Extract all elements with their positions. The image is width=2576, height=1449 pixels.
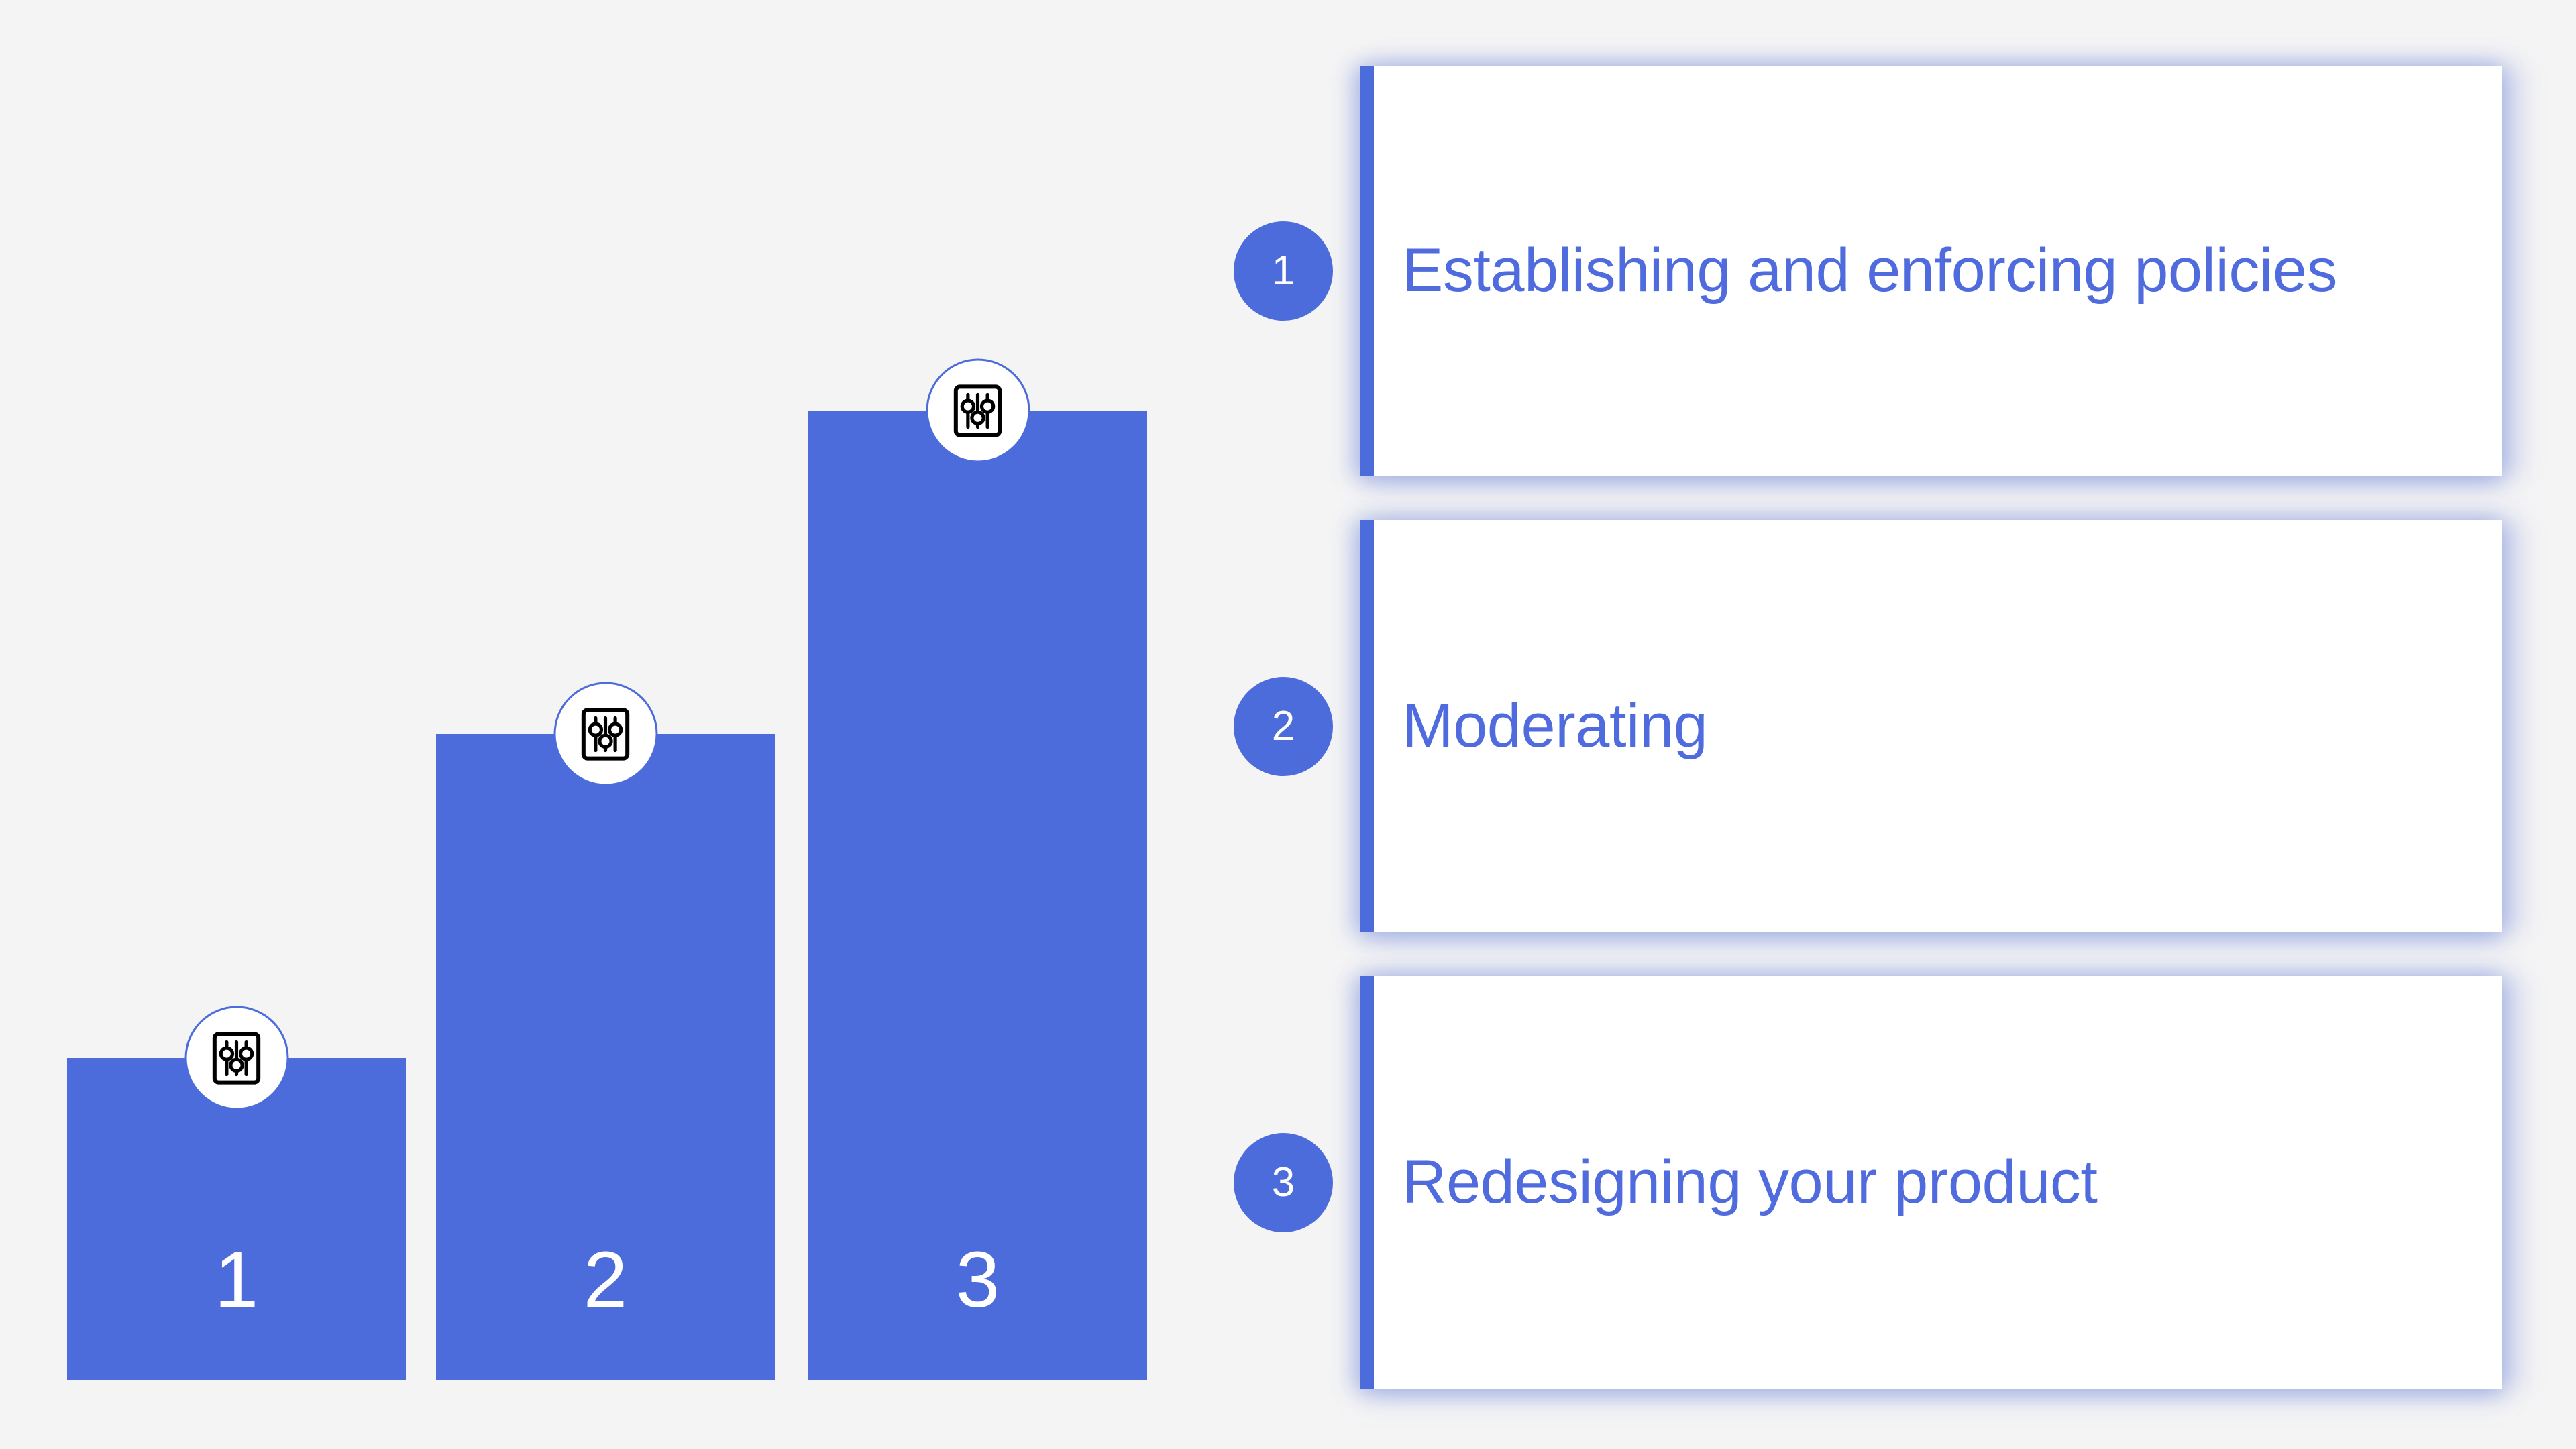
infographic-canvas: 1 2 bbox=[0, 0, 2576, 1449]
step-card-1[interactable]: Establishing and enforcing policies bbox=[1360, 66, 2502, 476]
step-label-3: Redesigning your product bbox=[1374, 1143, 2124, 1222]
sliders-equalizer-icon bbox=[553, 682, 657, 786]
step-number-badge-1: 1 bbox=[1234, 221, 1333, 321]
step-number-badge-2: 2 bbox=[1234, 677, 1333, 776]
step-item-2: 2 Moderating bbox=[1207, 520, 2576, 932]
step-label-1: Establishing and enforcing policies bbox=[1374, 231, 2364, 311]
step-number-badge-3: 3 bbox=[1234, 1133, 1333, 1232]
bar-label-2: 2 bbox=[436, 1240, 775, 1320]
bar-chart: 1 2 bbox=[0, 0, 1207, 1449]
bar-2[interactable]: 2 bbox=[436, 734, 775, 1380]
sliders-equalizer-icon bbox=[184, 1006, 288, 1110]
step-list: 1 Establishing and enforcing policies 2 … bbox=[1207, 0, 2576, 1449]
step-label-2: Moderating bbox=[1374, 687, 1734, 766]
step-card-2[interactable]: Moderating bbox=[1360, 520, 2502, 932]
sliders-equalizer-icon bbox=[926, 359, 1030, 463]
bar-label-3: 3 bbox=[808, 1240, 1147, 1320]
bar-1[interactable]: 1 bbox=[67, 1058, 406, 1380]
step-item-1: 1 Establishing and enforcing policies bbox=[1207, 66, 2576, 476]
bar-label-1: 1 bbox=[67, 1240, 406, 1320]
bar-3[interactable]: 3 bbox=[808, 411, 1147, 1380]
step-card-3[interactable]: Redesigning your product bbox=[1360, 976, 2502, 1389]
step-item-3: 3 Redesigning your product bbox=[1207, 976, 2576, 1389]
